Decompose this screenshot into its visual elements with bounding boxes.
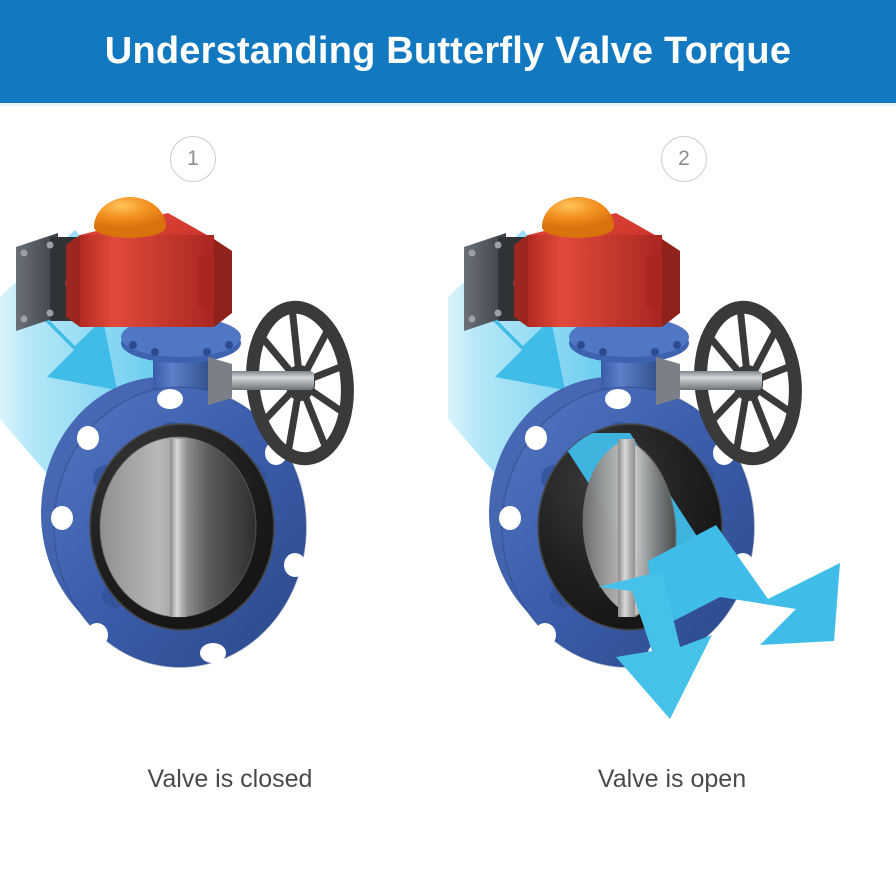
panel-valve-open: 2 xyxy=(448,103,896,896)
indicator-dome xyxy=(94,197,166,238)
caption-valve-closed: Valve is closed xyxy=(6,765,454,794)
valve-illustration-open xyxy=(448,195,896,755)
panel-valve-closed: 1 xyxy=(0,103,448,896)
step-badge-1: 1 xyxy=(170,136,216,182)
valve-stem xyxy=(170,439,187,617)
valve-illustration-closed xyxy=(0,195,448,755)
step-badge-2: 2 xyxy=(661,136,707,182)
page-title: Understanding Butterfly Valve Torque xyxy=(0,0,896,103)
caption-valve-open: Valve is open xyxy=(448,765,896,794)
indicator-dome xyxy=(542,197,614,238)
illustration-page: Understanding Butterfly Valve Torque 1 xyxy=(0,0,896,896)
